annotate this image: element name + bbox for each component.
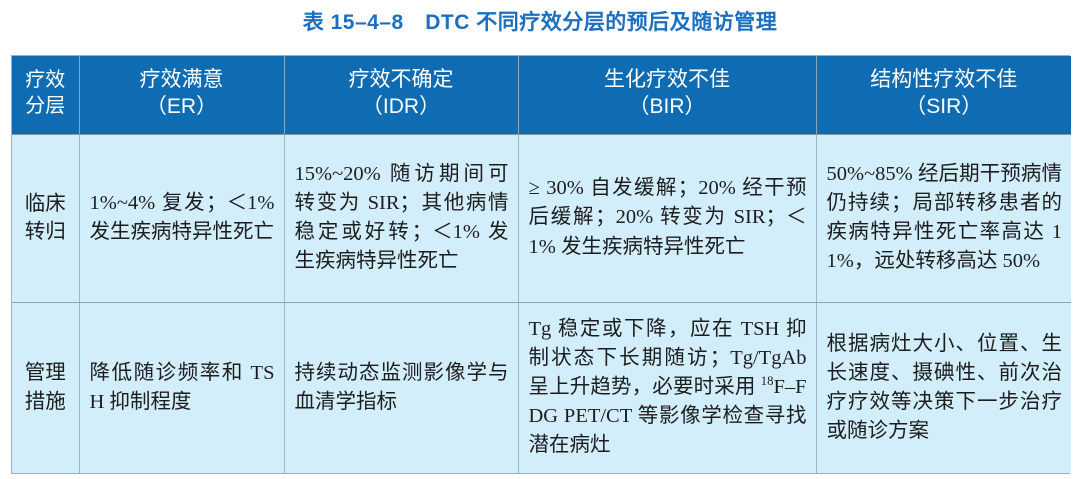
- cell-clinical-bir-text: ≥ 30% 自发缓解；20% 经干预后缓解；20% 转变为 SIR；＜ 1% 发…: [529, 174, 807, 261]
- cell-clinical-bir: ≥ 30% 自发缓解；20% 经干预后缓解；20% 转变为 SIR；＜ 1% 发…: [518, 134, 816, 302]
- cell-management-sir: 根据病灶大小、位置、生长速度、摄碘性、前次治疗疗效等决策下一步治疗或随诊方案: [816, 302, 1071, 473]
- prognosis-followup-table: 疗效 分层 疗效满意 （ER） 疗效不确定 （IDR） 生化疗效不佳 （BIR）: [12, 56, 1071, 473]
- cell-clinical-er: 1%~4% 复发；＜1% 发生疾病特异性死亡: [79, 134, 284, 302]
- row-label-management-line1: 管理: [15, 359, 76, 387]
- table-row-clinical-outcome: 临床 转归 1%~4% 复发；＜1% 发生疾病特异性死亡 15%~20% 随访期…: [12, 134, 1071, 302]
- row-label-clinical-line1: 临床: [15, 190, 76, 218]
- header-cell-sir: 结构性疗效不佳 （SIR）: [816, 56, 1071, 134]
- header-cell-idr: 疗效不确定 （IDR）: [284, 56, 518, 134]
- header-stratum-line2: 分层: [14, 94, 77, 120]
- table-caption: 表 15–4–8 DTC 不同疗效分层的预后及随访管理: [0, 6, 1080, 36]
- table-row-management-measures: 管理 措施 降低随诊频率和 TSH 抑制程度 持续动态监测影像学与血清学指标 T…: [12, 302, 1071, 473]
- header-stratum-line1: 疗效: [14, 68, 77, 94]
- table-header: 疗效 分层 疗效满意 （ER） 疗效不确定 （IDR） 生化疗效不佳 （BIR）: [12, 56, 1071, 134]
- table-body: 临床 转归 1%~4% 复发；＜1% 发生疾病特异性死亡 15%~20% 随访期…: [12, 134, 1071, 473]
- row-label-management-line2: 措施: [15, 388, 76, 416]
- table-container: 疗效 分层 疗效满意 （ER） 疗效不确定 （IDR） 生化疗效不佳 （BIR）: [11, 55, 1070, 474]
- header-er-line1: 疗效满意: [84, 67, 280, 94]
- row-label-clinical-outcome: 临床 转归: [12, 134, 79, 302]
- cell-clinical-sir: 50%~85% 经后期干预病情仍持续；局部转移患者的疾病特异性死亡率高达 11%…: [816, 134, 1071, 302]
- cell-management-bir: Tg 稳定或下降，应在 TSH 抑制状态下长期随访；Tg/TgAb 呈上升趋势，…: [518, 302, 816, 473]
- table-page: 表 15–4–8 DTC 不同疗效分层的预后及随访管理 疗效 分层 疗效满意: [0, 0, 1080, 479]
- cell-management-idr-text: 持续动态监测影像学与血清学指标: [295, 359, 509, 417]
- header-cell-stratum: 疗效 分层: [12, 56, 79, 134]
- row-label-management: 管理 措施: [12, 302, 79, 473]
- cell-management-sir-text: 根据病灶大小、位置、生长速度、摄碘性、前次治疗疗效等决策下一步治疗或随诊方案: [827, 330, 1063, 446]
- header-cell-bir: 生化疗效不佳 （BIR）: [518, 56, 816, 134]
- cell-clinical-idr: 15%~20% 随访期间可转变为 SIR；其他病情稳定或好转；＜1% 发生疾病特…: [284, 134, 518, 302]
- cell-clinical-idr-text: 15%~20% 随访期间可转变为 SIR；其他病情稳定或好转；＜1% 发生疾病特…: [295, 160, 509, 276]
- header-idr-line1: 疗效不确定: [289, 67, 514, 94]
- header-sir-line1: 结构性疗效不佳: [821, 67, 1068, 94]
- header-cell-er: 疗效满意 （ER）: [79, 56, 284, 134]
- row-label-clinical-line2: 转归: [15, 218, 76, 246]
- cell-management-idr: 持续动态监测影像学与血清学指标: [284, 302, 518, 473]
- header-er-line2: （ER）: [84, 94, 280, 121]
- cell-clinical-sir-text: 50%~85% 经后期干预病情仍持续；局部转移患者的疾病特异性死亡率高达 11%…: [827, 160, 1063, 276]
- header-row: 疗效 分层 疗效满意 （ER） 疗效不确定 （IDR） 生化疗效不佳 （BIR）: [12, 56, 1071, 134]
- header-idr-line2: （IDR）: [289, 94, 514, 121]
- header-bir-line2: （BIR）: [523, 94, 812, 121]
- isotope-superscript-18: 18: [761, 374, 774, 388]
- cell-management-er: 降低随诊频率和 TSH 抑制程度: [79, 302, 284, 473]
- cell-management-er-text: 降低随诊频率和 TSH 抑制程度: [90, 359, 275, 417]
- cell-clinical-er-text: 1%~4% 复发；＜1% 发生疾病特异性死亡: [90, 189, 275, 247]
- header-sir-line2: （SIR）: [821, 94, 1068, 121]
- header-bir-line1: 生化疗效不佳: [523, 67, 812, 94]
